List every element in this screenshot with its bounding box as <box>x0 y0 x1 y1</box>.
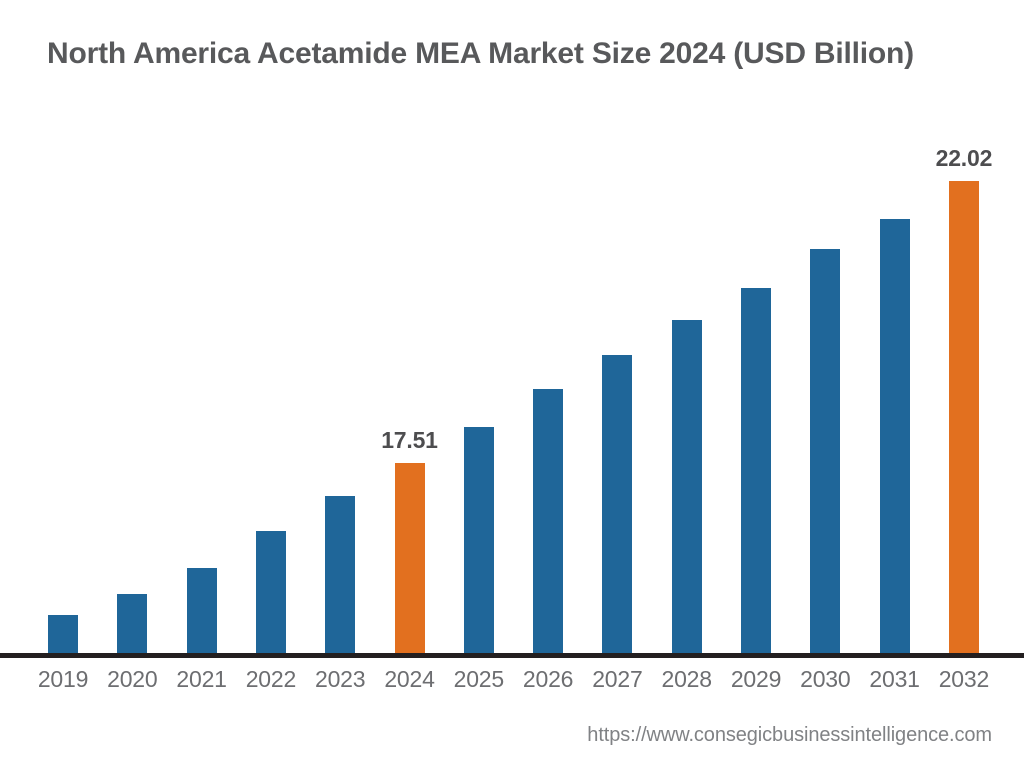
bar-2022 <box>256 531 286 655</box>
x-axis-line <box>0 653 1024 658</box>
bar-2023 <box>325 496 355 655</box>
plot-area: 17.5122.02 <box>0 0 1024 657</box>
bar-2021 <box>187 568 217 655</box>
bar-rect <box>117 594 147 655</box>
bar-rect <box>48 615 78 655</box>
bar-rect <box>880 219 910 655</box>
bar-rect <box>395 463 425 655</box>
bar-2030 <box>810 249 840 655</box>
bar-rect <box>741 288 771 655</box>
bar-value-label-2032: 22.02 <box>936 145 993 172</box>
bar-2019 <box>48 615 78 655</box>
bar-rect <box>533 389 563 655</box>
bar-2026 <box>533 389 563 655</box>
x-axis-label-2032: 2032 <box>918 663 1010 695</box>
x-axis-tick-labels: 2019202020212022202320242025202620272028… <box>0 663 1024 703</box>
bar-2031 <box>880 219 910 655</box>
bar-rect <box>256 531 286 655</box>
bar-series: 17.5122.02 <box>0 0 1024 657</box>
bar-rect <box>602 355 632 655</box>
bar-value-label-2024: 17.51 <box>381 427 438 454</box>
bar-2027 <box>602 355 632 655</box>
bar-rect <box>464 427 494 655</box>
bar-rect <box>325 496 355 655</box>
bar-rect <box>810 249 840 655</box>
source-url: https://www.consegicbusinessintelligence… <box>587 724 992 747</box>
bar-rect <box>187 568 217 655</box>
bar-2024: 17.51 <box>395 463 425 655</box>
bar-2029 <box>741 288 771 655</box>
bar-2032: 22.02 <box>949 181 979 655</box>
bar-rect <box>672 320 702 655</box>
bar-2025 <box>464 427 494 655</box>
bar-2028 <box>672 320 702 655</box>
chart-figure: North America Acetamide MEA Market Size … <box>0 0 1024 768</box>
bar-rect <box>949 181 979 655</box>
bar-2020 <box>117 594 147 655</box>
